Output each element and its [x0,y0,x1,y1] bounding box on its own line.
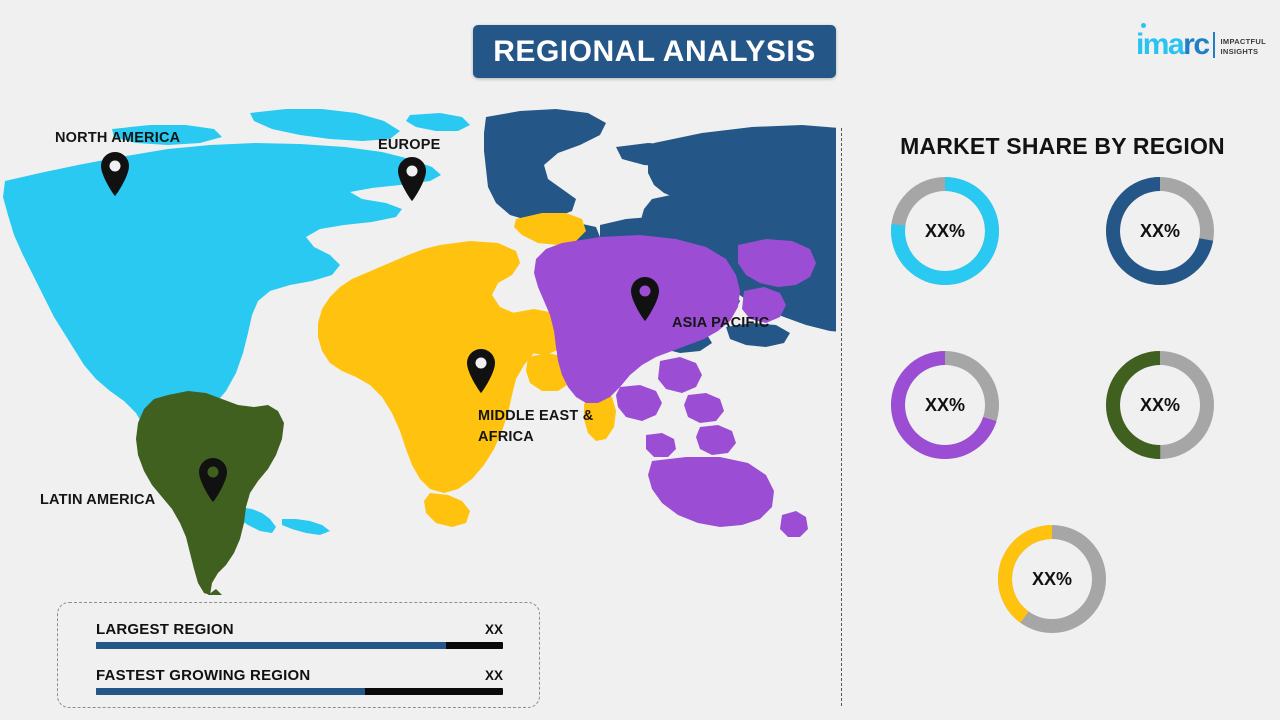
legend-value-fastest-growing-region: XX [485,668,503,683]
legend-bar-fill-fastest-growing-region [96,688,365,695]
legend-bar-fastest-growing-region [96,688,503,695]
logo-tagline-line1: IMPACTFUL [1221,37,1266,47]
panel-divider [841,128,842,706]
map-pin-europe-icon[interactable] [397,157,427,201]
legend-bar-fill-largest-region [96,642,446,649]
map-label-asia-pacific: ASIA PACIFIC [672,313,769,334]
logo-tagline: IMPACTFUL INSIGHTS [1221,37,1266,60]
legend-label-fastest-growing-region: FASTEST GROWING REGION [96,667,310,684]
donut-value-latin-america: XX% [1101,346,1219,464]
legend-label-largest-region: LARGEST REGION [96,621,234,638]
logo-word-light: ima [1136,28,1183,61]
market-share-title: MARKET SHARE BY REGION [845,133,1280,160]
map-label-middle-east-africa: MIDDLE EAST & AFRICA [478,406,593,448]
map-label-north-america: NORTH AMERICA [55,128,180,149]
region-summary-legend: LARGEST REGION XX FASTEST GROWING REGION… [57,602,540,708]
donut-value-europe: XX% [1101,172,1219,290]
map-pin-north-america-icon[interactable] [100,152,130,196]
map-pin-middle-east-africa-icon[interactable] [466,349,496,393]
legend-row-largest-region: LARGEST REGION XX [96,621,503,649]
logo-dot-icon [1141,23,1146,28]
logo-divider [1213,32,1215,58]
donut-value-north-america: XX% [886,172,1004,290]
map-pin-asia-pacific-icon[interactable] [630,277,660,321]
regional-analysis-infographic: REGIONAL ANALYSIS imarc IMPACTFUL INSIGH… [0,0,1280,720]
donut-value-asia-pacific: XX% [886,346,1004,464]
market-share-panel: MARKET SHARE BY REGION XX% XX% XX% XX% X… [845,120,1280,720]
donut-chart-asia-pacific[interactable]: XX% [886,346,1004,464]
legend-bar-largest-region [96,642,503,649]
world-map-panel: NORTH AMERICA EUROPE ASIA PACIFIC MIDDLE… [0,95,836,635]
page-title-badge: REGIONAL ANALYSIS [473,25,836,78]
logo-tagline-line2: INSIGHTS [1221,47,1266,57]
map-label-latin-america: LATIN AMERICA [40,490,155,511]
donut-chart-latin-america[interactable]: XX% [1101,346,1219,464]
legend-row-fastest-growing-region: FASTEST GROWING REGION XX [96,667,503,695]
donut-chart-middle-east-africa[interactable]: XX% [993,520,1111,638]
map-label-europe: EUROPE [378,135,440,156]
logo-wordmark: imarc [1136,30,1209,60]
donut-value-middle-east-africa: XX% [993,520,1111,638]
donut-chart-europe[interactable]: XX% [1101,172,1219,290]
map-pin-latin-america-icon[interactable] [198,458,228,502]
map-region-asia-pacific[interactable] [534,235,816,537]
logo-word-dark: rc [1183,28,1208,61]
legend-value-largest-region: XX [485,622,503,637]
page-title: REGIONAL ANALYSIS [493,35,815,69]
imarc-logo: imarc IMPACTFUL INSIGHTS [1136,20,1266,60]
donut-chart-north-america[interactable]: XX% [886,172,1004,290]
